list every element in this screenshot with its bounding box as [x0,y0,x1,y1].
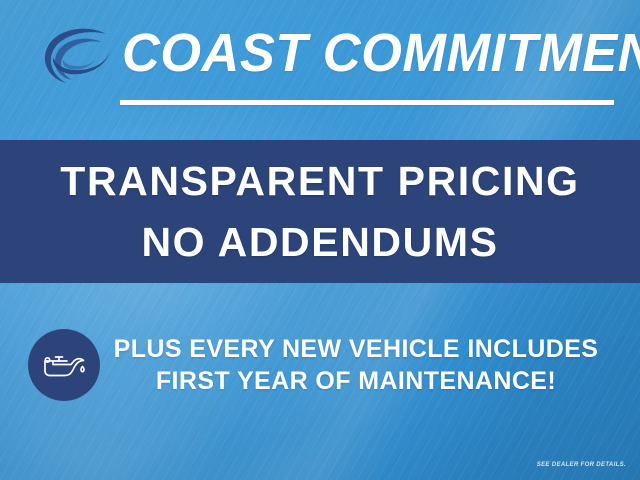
headline-no-addendums: NO ADDENDUMS [141,222,498,263]
disclaimer-text: SEE DEALER FOR DETAILS. [537,462,626,468]
promo-text-block: PLUS EVERY NEW VEHICLE INCLUDES FIRST YE… [100,333,640,398]
promo-line-one: PLUS EVERY NEW VEHICLE INCLUDES [100,333,612,366]
promo-section: PLUS EVERY NEW VEHICLE INCLUDES FIRST YE… [0,320,640,410]
promo-line-two: FIRST YEAR OF MAINTENANCE! [100,365,612,398]
headline-transparent-pricing: TRANSPARENT PRICING [60,161,579,202]
header-divider [120,100,614,105]
coast-commitment-banner: COAST COMMITMENT TRANSPARENT PRICING NO … [0,0,640,480]
headline-band: TRANSPARENT PRICING NO ADDENDUMS [0,140,640,283]
banner-header: COAST COMMITMENT [0,0,640,140]
oil-can-icon [28,329,100,401]
page-title: COAST COMMITMENT [122,22,607,84]
coast-wave-swirl-logo-icon [36,22,118,94]
